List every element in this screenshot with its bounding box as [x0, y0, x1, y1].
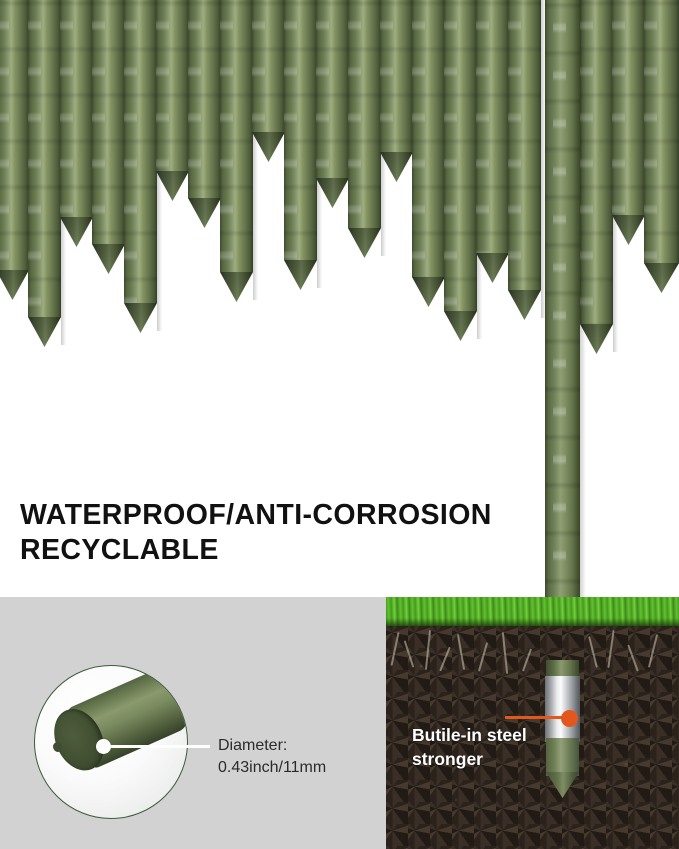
stake-shaft	[444, 0, 477, 311]
long-stake-shaft	[545, 0, 580, 680]
stake-shaft	[612, 0, 645, 215]
orange-dot-marker	[561, 710, 578, 727]
long-stake-in-ground	[545, 0, 580, 680]
steel-callout-line-2: stronger	[412, 747, 527, 771]
diameter-closeup-circle	[34, 665, 188, 819]
root-filament	[627, 645, 638, 672]
stake-shaft	[156, 0, 189, 171]
long-stake-shadow	[580, 0, 586, 680]
stake-shaft	[220, 0, 253, 272]
white-dot-marker	[96, 739, 111, 754]
buried-lower-green	[546, 738, 579, 776]
root-filament	[607, 630, 614, 668]
stake	[28, 0, 61, 345]
steel-leader-line	[505, 716, 565, 719]
stake-tip-shadow	[316, 178, 349, 208]
stake	[348, 0, 381, 256]
grass-layer	[386, 597, 679, 626]
stake	[444, 0, 477, 339]
root-filament	[648, 634, 658, 667]
headline-line-2: RECYCLABLE	[20, 533, 560, 568]
stake-shaft	[252, 0, 285, 132]
stake-tip-shadow	[156, 171, 189, 201]
stake	[508, 0, 541, 318]
root-filaments	[386, 626, 679, 706]
buried-stake-point	[546, 772, 579, 798]
diameter-value: 0.43inch/11mm	[218, 757, 326, 779]
steel-callout-line-1: Butile-in steel	[412, 723, 527, 747]
steel-sleeve	[545, 676, 580, 742]
root-filament	[390, 632, 399, 666]
stake-tip-shadow	[612, 215, 645, 245]
stake	[60, 0, 93, 245]
stake	[612, 0, 645, 243]
root-filament	[425, 630, 431, 670]
root-filament	[478, 642, 488, 671]
stake	[252, 0, 285, 160]
stake-tip-shadow	[476, 253, 509, 283]
stake-shaft	[92, 0, 125, 244]
diameter-label: Diameter:	[218, 735, 326, 757]
stake-tip-shadow	[124, 303, 157, 333]
stake-tip-shadow	[444, 311, 477, 341]
root-filament	[502, 632, 508, 674]
stake	[92, 0, 125, 272]
stake	[284, 0, 317, 288]
stake-shaft	[508, 0, 541, 290]
stake-shaft	[316, 0, 349, 178]
stake-shaft	[28, 0, 61, 317]
stake-tip-shadow	[508, 290, 541, 320]
headline: WATERPROOF/ANTI-CORROSION RECYCLABLE	[20, 498, 560, 568]
stake-shaft	[380, 0, 413, 152]
stake-shaft	[284, 0, 317, 260]
stake-tip-shadow	[252, 132, 285, 162]
stake-tip-shadow	[644, 263, 679, 293]
root-filament	[457, 634, 465, 670]
diameter-callout-text: Diameter: 0.43inch/11mm	[218, 735, 326, 779]
stake-shaft	[412, 0, 445, 277]
stake-tip-shadow	[412, 277, 445, 307]
stake-shaft	[124, 0, 157, 303]
stake	[188, 0, 221, 226]
stake-tip-shadow	[188, 198, 221, 228]
stake	[220, 0, 253, 300]
stake-shaft	[348, 0, 381, 228]
stake	[156, 0, 189, 199]
buried-stake-section	[545, 660, 580, 800]
product-feature-image: WATERPROOF/ANTI-CORROSION RECYCLABLE Dia…	[0, 0, 679, 849]
stake	[0, 0, 29, 298]
stake-cross-section	[45, 667, 188, 785]
diameter-leader-line	[110, 745, 210, 748]
stake-tip-shadow	[28, 317, 61, 347]
stake-tip-shadow	[0, 270, 29, 300]
root-filament	[588, 636, 598, 668]
root-filament	[522, 648, 532, 671]
stake	[380, 0, 413, 180]
stake-tip-shadow	[60, 217, 93, 247]
stake	[644, 0, 679, 291]
root-filament	[439, 647, 451, 672]
stake-shaft	[188, 0, 221, 198]
stake-tip-shadow	[380, 152, 413, 182]
stake	[476, 0, 509, 281]
headline-line-1: WATERPROOF/ANTI-CORROSION	[20, 498, 560, 533]
root-filament	[404, 640, 415, 667]
stake-tip-shadow	[92, 244, 125, 274]
stake-tip-shadow	[284, 260, 317, 290]
stake	[412, 0, 445, 305]
stake-shaft	[476, 0, 509, 253]
stake	[316, 0, 349, 206]
stake-shaft	[0, 0, 29, 270]
stake-tip-shadow	[220, 272, 253, 302]
stake	[124, 0, 157, 331]
steel-callout-text: Butile-in steel stronger	[412, 723, 527, 771]
buried-upper-green	[546, 660, 579, 677]
stake-shaft	[60, 0, 93, 217]
stake-tip-shadow	[348, 228, 381, 258]
stake-shaft	[644, 0, 679, 263]
